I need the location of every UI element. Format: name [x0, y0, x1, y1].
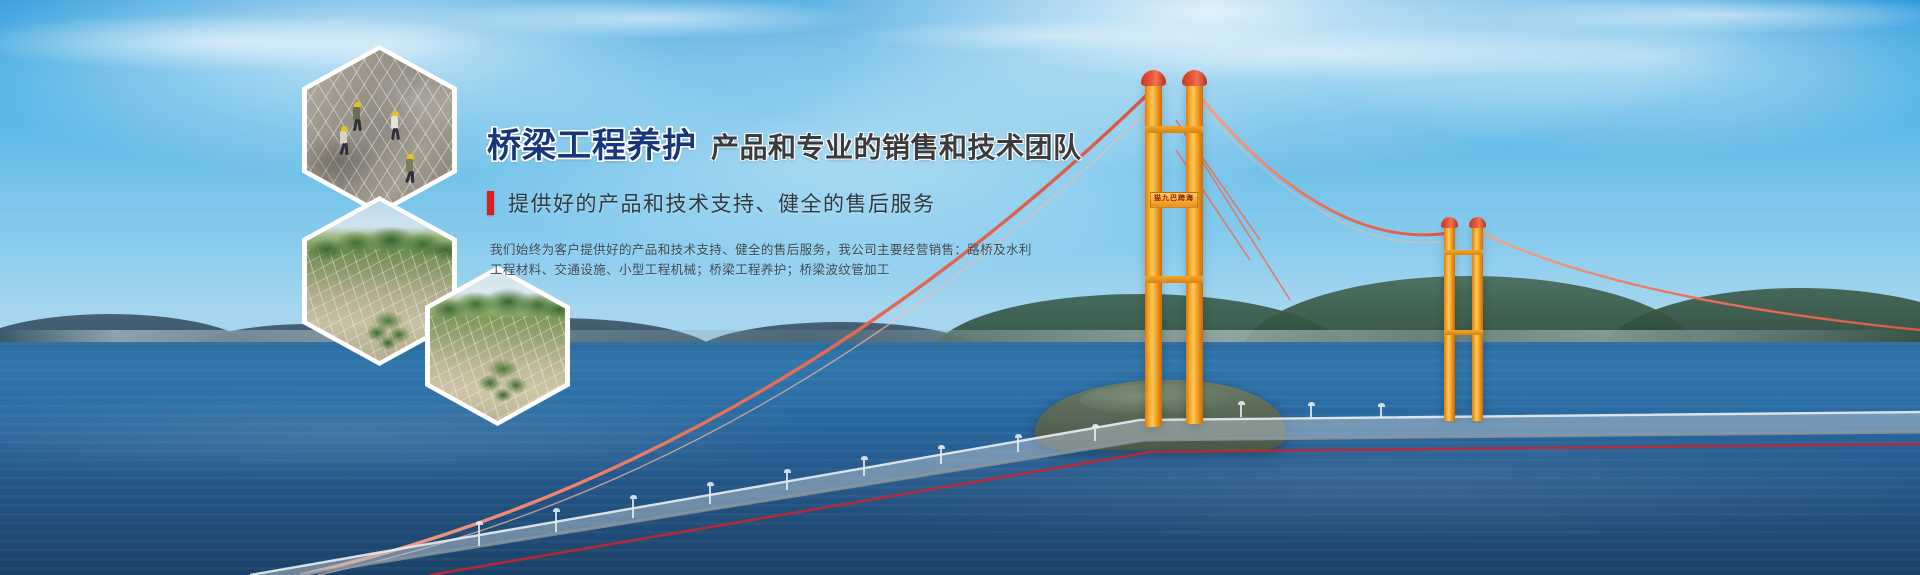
lamp-post	[632, 498, 634, 518]
body-line-2: 工程材料、交通设施、小型工程机械；桥梁工程养护；桥梁波纹管加工	[490, 260, 1050, 280]
main-cable-right	[1480, 232, 1920, 330]
far-tower-cap-right	[1469, 217, 1486, 228]
accent-bar	[487, 191, 494, 215]
main-cable-mid-highlight	[1196, 100, 1452, 243]
banner-headline: 桥梁工程养护 产品和专业的销售和技术团队	[487, 118, 1107, 167]
lamp-post	[1017, 437, 1019, 452]
tree-line	[307, 220, 452, 262]
headline-secondary: 产品和专业的销售和技术团队	[711, 126, 1082, 166]
bridge-tower-main-right-leg	[1186, 82, 1203, 424]
hexagon-photo-cluster	[0, 0, 620, 575]
bridge-tower-main-left-leg	[1145, 82, 1162, 427]
lamp-post	[1240, 404, 1242, 417]
subheadline-text: 提供好的产品和技术支持、健全的售后服务	[508, 188, 936, 218]
lamp-post	[863, 459, 865, 476]
hanger-cables-right	[1220, 140, 1890, 425]
body-line-1: 我们始终为客户提供好的产品和技术支持、健全的售后服务，我公司主要经营销售：路桥及…	[490, 240, 1050, 260]
banner-subheadline: 提供好的产品和技术支持、健全的售后服务	[487, 188, 1107, 218]
tower-brace-lower	[1145, 276, 1203, 283]
tower-nameplate: 猫九巴跨海	[1150, 192, 1198, 208]
far-tower-cap-left	[1441, 217, 1458, 228]
photo-rockfall-netting	[307, 50, 452, 210]
lamp-post	[709, 485, 711, 504]
lamp-post	[1380, 406, 1382, 418]
lamp-post	[786, 472, 788, 490]
hex-photo-frame	[430, 271, 565, 421]
tower-brace-upper	[1145, 126, 1203, 133]
shrub	[365, 309, 411, 355]
photo-slope-greening	[430, 271, 565, 421]
headline-primary: 桥梁工程养护	[487, 118, 697, 167]
lamp-post	[1310, 405, 1312, 417]
shrub	[476, 355, 530, 409]
banner-copy: 桥梁工程养护 产品和专业的销售和技术团队 提供好的产品和技术支持、健全的售后服务…	[487, 118, 1107, 280]
far-tower-brace-lower	[1444, 330, 1483, 335]
hex-photo-frame	[307, 50, 452, 210]
tower-nameplate-text: 猫九巴跨海	[1151, 193, 1197, 205]
hero-banner: 猫九巴跨海	[0, 0, 1920, 575]
hex-photo-rockfall-netting-workers[interactable]	[302, 45, 457, 215]
banner-body-copy: 我们始终为客户提供好的产品和技术支持、健全的售后服务，我公司主要经营销售：路桥及…	[490, 240, 1050, 280]
lamp-post	[1094, 427, 1096, 441]
lamp-post	[940, 448, 942, 464]
far-tower-brace-upper	[1444, 250, 1483, 255]
